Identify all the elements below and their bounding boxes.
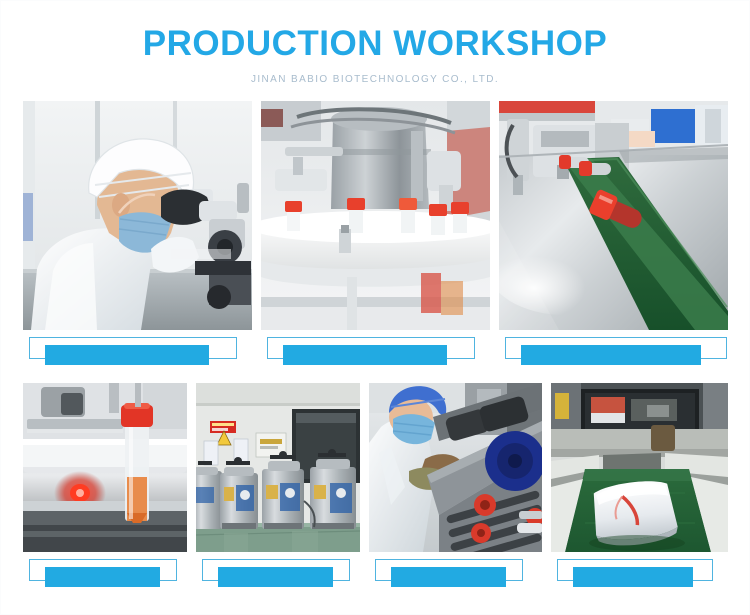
vial-capping-machine-photo[interactable] <box>261 101 490 330</box>
caption-bar <box>391 567 506 587</box>
caption-placeholder[interactable] <box>23 556 187 596</box>
caption-placeholder[interactable] <box>196 556 360 596</box>
tube-inspection-sensor-illustration <box>23 383 187 552</box>
caption-placeholder[interactable] <box>499 334 728 374</box>
packaging-operator-photo[interactable] <box>369 383 542 552</box>
caption-placeholder[interactable] <box>551 556 728 596</box>
green-conveyor-line-photo[interactable] <box>499 101 728 330</box>
caption-label <box>573 567 693 587</box>
gallery-cell[interactable] <box>23 383 187 596</box>
caption-bar <box>45 567 160 587</box>
sealed-package-output-photo[interactable] <box>551 383 728 552</box>
green-conveyor-line-illustration <box>499 101 728 330</box>
gallery-row-top <box>23 101 729 374</box>
caption-label <box>218 567 333 587</box>
production-workshop-page: PRODUCTION WORKSHOP JINAN BABIO BIOTECHN… <box>0 0 750 615</box>
gallery-cell[interactable] <box>261 101 490 374</box>
packaging-operator-illustration <box>369 383 542 552</box>
caption-bar <box>45 345 209 365</box>
page-header: PRODUCTION WORKSHOP JINAN BABIO BIOTECHN… <box>1 1 749 87</box>
page-title: PRODUCTION WORKSHOP <box>1 23 749 65</box>
caption-bar <box>218 567 333 587</box>
vertical-autoclave-room-illustration <box>196 383 360 552</box>
caption-placeholder[interactable] <box>261 334 490 374</box>
microscope-inspection-photo[interactable] <box>23 101 252 330</box>
caption-label <box>521 345 701 365</box>
sealed-package-output-illustration <box>551 383 728 552</box>
caption-label <box>45 567 160 587</box>
vertical-autoclave-room-photo[interactable] <box>196 383 360 552</box>
caption-bar <box>521 345 701 365</box>
caption-label <box>283 345 447 365</box>
caption-bar <box>573 567 693 587</box>
caption-label <box>45 345 209 365</box>
vial-capping-machine-illustration <box>261 101 490 330</box>
gallery-cell[interactable] <box>369 383 542 596</box>
gallery-cell[interactable] <box>196 383 360 596</box>
caption-placeholder[interactable] <box>23 334 252 374</box>
photo-gallery <box>1 87 749 596</box>
caption-label <box>391 567 506 587</box>
company-subtitle: JINAN BABIO BIOTECHNOLOGY CO., LTD. <box>1 73 749 87</box>
tube-inspection-sensor-photo[interactable] <box>23 383 187 552</box>
gallery-row-bottom <box>23 383 729 596</box>
caption-bar <box>283 345 447 365</box>
caption-placeholder[interactable] <box>369 556 542 596</box>
gallery-cell[interactable] <box>551 383 728 596</box>
microscope-inspection-illustration <box>23 101 252 330</box>
gallery-cell[interactable] <box>499 101 728 374</box>
gallery-cell[interactable] <box>23 101 252 374</box>
